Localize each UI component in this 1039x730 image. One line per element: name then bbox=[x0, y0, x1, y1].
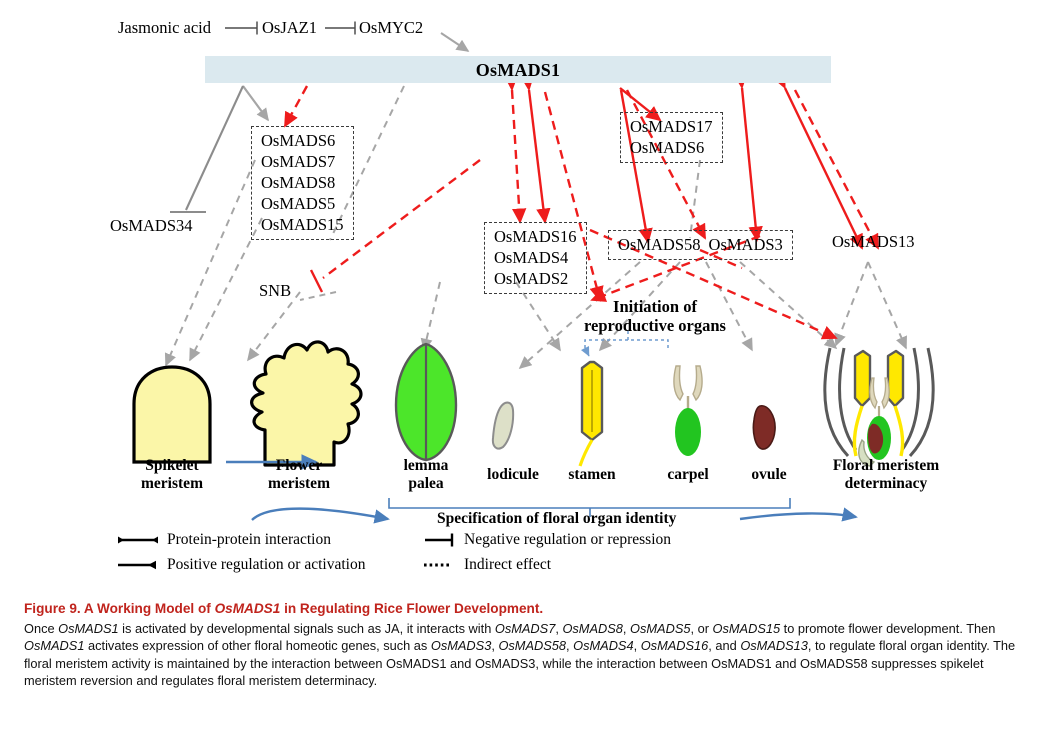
caption-title: Figure 9. A Working Model of OsMADS1 in … bbox=[24, 600, 1019, 618]
gene-label: OsMADS58 bbox=[618, 234, 701, 255]
osmads1-banner-label: OsMADS1 bbox=[205, 57, 831, 84]
organ-label-carpel: carpel bbox=[667, 466, 708, 484]
organ-label-line: Floral meristem bbox=[833, 457, 939, 475]
organ-label-ovule: ovule bbox=[751, 466, 786, 484]
organ-label-stamen: stamen bbox=[568, 466, 615, 484]
gene-label: OsMADS4 bbox=[494, 247, 577, 268]
arrow-osmyc2-to-osmads1 bbox=[441, 33, 468, 51]
label-jasmonic-acid: Jasmonic acid bbox=[118, 18, 211, 38]
gene-box-abce: OsMADS6 OsMADS7 OsMADS8 OsMADS5 OsMADS15 bbox=[251, 126, 354, 240]
legend-protein-protein-interaction: Protein-protein interaction bbox=[167, 531, 331, 549]
label-osmads34: OsMADS34 bbox=[110, 216, 193, 236]
organ-label-line: lodicule bbox=[487, 466, 539, 484]
floral-meristem-determinacy-glyph bbox=[825, 348, 933, 466]
label-specification-floral-organ-identity: Specification of floral organ identity bbox=[437, 510, 676, 528]
figure-caption: Figure 9. A Working Model of OsMADS1 in … bbox=[24, 600, 1019, 690]
organ-label-line: ovule bbox=[751, 466, 786, 484]
stamen-glyph bbox=[580, 362, 602, 466]
gene-label: OsMADS8 bbox=[261, 172, 344, 193]
gene-box-osmads17-6: OsMADS17 OsMADS6 bbox=[620, 112, 723, 163]
label-osmads13: OsMADS13 bbox=[832, 232, 915, 252]
carpel-glyph bbox=[674, 366, 702, 456]
organ-label-line: stamen bbox=[568, 466, 615, 484]
gene-label: OsMADS7 bbox=[261, 151, 344, 172]
gene-label: OsMADS6 bbox=[630, 137, 713, 158]
activation-edges bbox=[285, 86, 878, 338]
arrow-specification-right bbox=[740, 513, 856, 519]
label-snb: SNB bbox=[259, 281, 291, 301]
arrow-specification-left bbox=[252, 509, 388, 520]
gene-box-b-class: OsMADS16 OsMADS4 OsMADS2 bbox=[484, 222, 587, 294]
gene-label: OsMADS17 bbox=[630, 116, 713, 137]
initiation-line-2: reproductive organs bbox=[584, 316, 726, 335]
organ-label-line: meristem bbox=[268, 475, 330, 493]
flower-meristem-glyph bbox=[252, 342, 361, 465]
organ-label-line: carpel bbox=[667, 466, 708, 484]
gene-label: OsMADS5 bbox=[261, 193, 344, 214]
organ-label-lemma-palea: lemma palea bbox=[404, 457, 449, 493]
organ-label-line: determinacy bbox=[833, 475, 939, 493]
figure-panel: Jasmonic acid OsJAZ1 OsMYC2 OsMADS1 OsMA… bbox=[0, 0, 1039, 598]
organ-label-line: Flower bbox=[268, 457, 330, 475]
diagram-canvas bbox=[0, 0, 1039, 598]
legend-indirect-effect: Indirect effect bbox=[464, 556, 551, 574]
label-initiation-reproductive-organs: Initiation of reproductive organs bbox=[584, 297, 726, 335]
spikelet-meristem-glyph bbox=[134, 367, 210, 462]
gene-label: OsMADS2 bbox=[494, 268, 577, 289]
organ-label-line: Spikelet bbox=[141, 457, 203, 475]
label-osmyc2: OsMYC2 bbox=[359, 18, 423, 38]
lemma-palea-glyph bbox=[396, 344, 456, 460]
organ-label-lodicule: lodicule bbox=[487, 466, 539, 484]
organ-label-spikelet-meristem: Spikelet meristem bbox=[141, 457, 203, 493]
gene-label: OsMADS3 bbox=[709, 234, 783, 255]
gene-label: OsMADS6 bbox=[261, 130, 344, 151]
caption-body: Once OsMADS1 is activated by development… bbox=[24, 620, 1019, 690]
organ-label-line: meristem bbox=[141, 475, 203, 493]
lodicule-glyph bbox=[493, 403, 513, 449]
caption-title-part: Figure 9. A Working Model of bbox=[24, 601, 215, 616]
caption-title-part: in Regulating Rice Flower Development. bbox=[280, 601, 543, 616]
organ-label-flower-meristem: Flower meristem bbox=[268, 457, 330, 493]
legend-negative-regulation: Negative regulation or repression bbox=[464, 531, 671, 549]
gene-label: OsMADS16 bbox=[494, 226, 577, 247]
organ-label-line: palea bbox=[404, 475, 449, 493]
organ-label-line: lemma bbox=[404, 457, 449, 475]
ovule-glyph bbox=[753, 406, 775, 449]
label-osjaz1: OsJAZ1 bbox=[262, 18, 317, 38]
initiation-line-1: Initiation of bbox=[584, 297, 726, 316]
organ-label-floral-meristem-determinacy: Floral meristem determinacy bbox=[833, 457, 939, 493]
caption-title-gene: OsMADS1 bbox=[215, 601, 281, 616]
legend-positive-regulation: Positive regulation or activation bbox=[167, 556, 365, 574]
osmads34-inhibition bbox=[170, 86, 243, 212]
gene-label: OsMADS15 bbox=[261, 214, 344, 235]
gene-box-c-class: OsMADS58 OsMADS3 bbox=[608, 230, 793, 260]
